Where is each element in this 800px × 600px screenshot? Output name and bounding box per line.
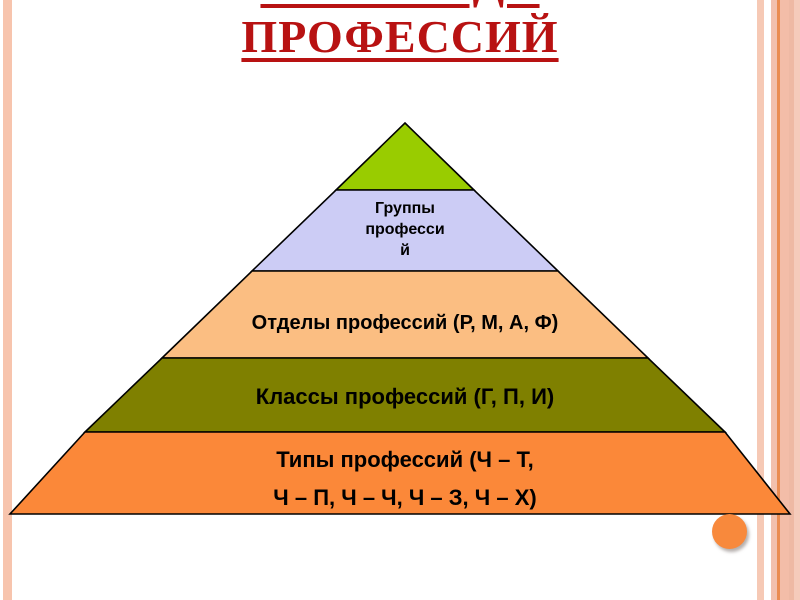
pyramid-level-apex-blank [336,123,474,190]
slide-canvas: ПИРАМИДА ПРОФЕССИЙ Группы професси й Отд… [0,0,800,600]
decor-corner-circle [712,514,747,549]
pyramid-level-types [10,432,790,514]
pyramid-diagram [0,0,800,600]
pyramid-level-groups [252,190,558,271]
pyramid-level-classes [85,358,725,432]
pyramid-level-departments [162,271,648,358]
